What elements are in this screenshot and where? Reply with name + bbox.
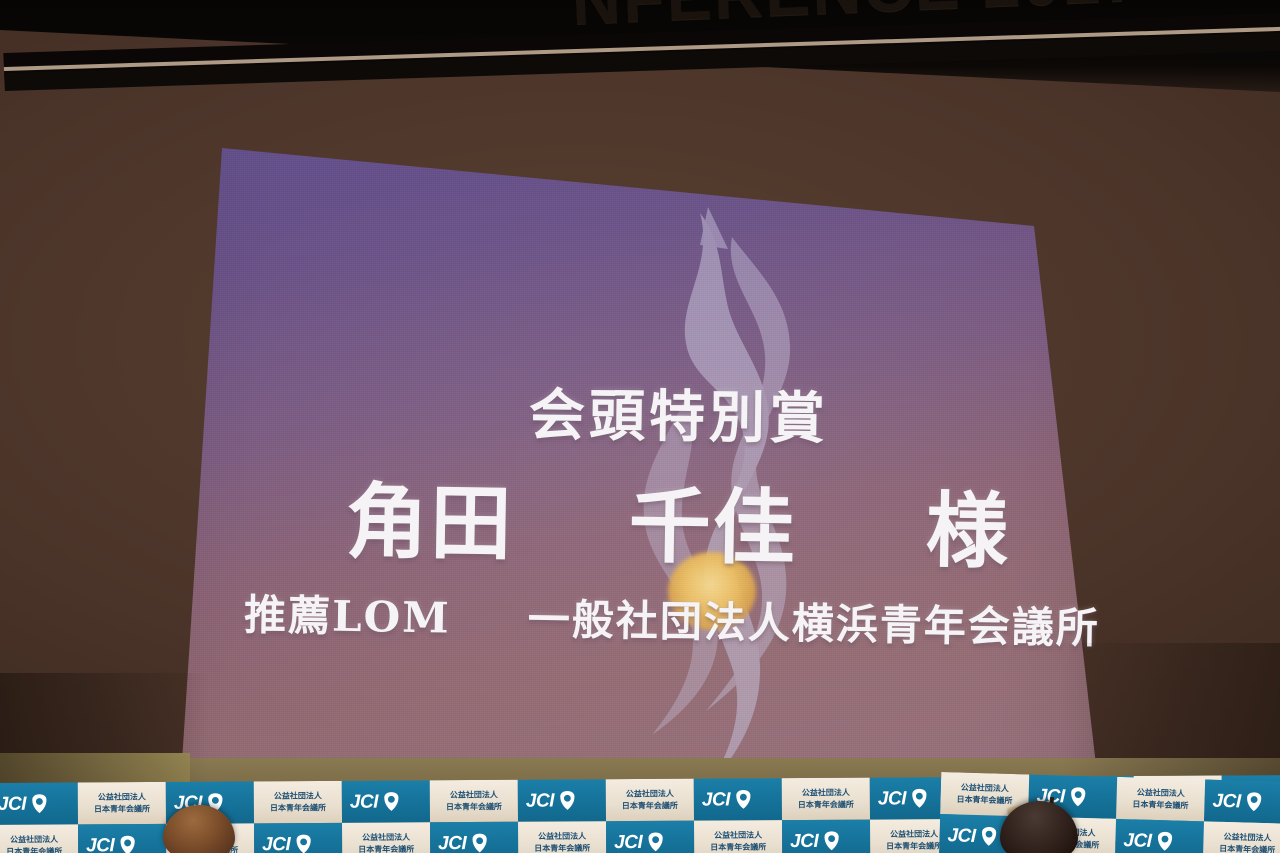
jci-org-line-1: 公益社団法人 [270, 790, 326, 802]
jci-shield-icon [980, 826, 998, 846]
skirt-cell-org-name: 公益社団法人日本青年会議所 [694, 820, 782, 853]
jci-logo: JCI [526, 790, 576, 810]
jci-logo: JCI [86, 835, 136, 853]
lom-label: 推薦LOM [244, 590, 451, 642]
skirt-cell-org-name: 公益社団法人日本青年会議所 [606, 779, 694, 822]
jci-wordmark: JCI [350, 792, 378, 811]
jci-shield-icon [1156, 831, 1174, 851]
jci-org-line-2: 日本青年会議所 [94, 803, 150, 815]
jci-logo: JCI [0, 794, 48, 814]
jci-org-line-2: 日本青年会議所 [446, 801, 502, 813]
skirt-cell-jci-logo: JCI [518, 779, 606, 822]
lom-name: 一般社団法人横浜青年会議所 [528, 595, 1101, 653]
jci-wordmark: JCI [614, 832, 642, 851]
jci-logo: JCI [1123, 830, 1174, 851]
jci-org-name: 公益社団法人日本青年会議所 [270, 790, 326, 814]
screenshot-root: NFERENCE 2017 会頭特別賞 角田 [0, 0, 1280, 853]
skirt-cell-org-name: 公益社団法人日本青年会議所 [782, 778, 870, 821]
jci-shield-icon [823, 831, 840, 851]
jci-org-line-1: 公益社団法人 [798, 787, 854, 799]
recipient-given-name: 千佳 [628, 478, 798, 577]
jci-logo: JCI [438, 833, 488, 853]
jci-wordmark: JCI [1123, 831, 1152, 851]
jci-wordmark: JCI [878, 789, 906, 808]
recipient-family-name: 角田 [345, 474, 515, 573]
jci-org-line-1: 公益社団法人 [710, 830, 766, 842]
skirt-cell-jci-logo: JCI [782, 820, 870, 853]
jci-org-name: 公益社団法人日本青年会議所 [6, 834, 62, 853]
name-spacer-1 [544, 553, 598, 554]
jci-org-line-2: 日本青年会議所 [710, 841, 766, 853]
skirt-cell-org-name: 公益社団法人日本青年会議所 [254, 781, 342, 824]
jci-org-name: 公益社団法人日本青年会議所 [622, 788, 678, 812]
skirt-cell-org-name: 公益社団法人日本青年会議所 [1116, 777, 1205, 821]
jci-org-line-2: 日本青年会議所 [886, 840, 942, 852]
jci-org-name: 公益社団法人日本青年会議所 [446, 789, 502, 813]
jci-logo: JCI [702, 789, 752, 809]
jci-wordmark: JCI [702, 790, 730, 809]
jci-org-line-2: 日本青年会議所 [6, 846, 62, 853]
jci-shield-icon [119, 835, 136, 853]
jci-org-line-1: 公益社団法人 [94, 791, 150, 803]
skirt-cell-org-name: 公益社団法人日本青年会議所 [78, 782, 166, 825]
jci-org-line-2: 日本青年会議所 [358, 843, 414, 853]
skirt-cell-jci-logo: JCI [78, 824, 166, 853]
skirt-cell-org-name: 公益社団法人日本青年会議所 [342, 822, 430, 853]
skirt-cell-org-name: 公益社団法人日本青年会議所 [430, 780, 518, 823]
jci-org-name: 公益社団法人日本青年会議所 [94, 791, 150, 815]
jci-org-line-2: 日本青年会議所 [798, 799, 854, 811]
jci-wordmark: JCI [0, 794, 26, 813]
jci-org-line-2: 日本青年会議所 [1219, 843, 1275, 853]
jci-wordmark: JCI [262, 835, 290, 853]
jci-table-skirt-right: 公益社団法人日本青年会議所JCI公益社団法人日本青年会議所JCI公益社団法人日本… [939, 772, 1280, 853]
jci-wordmark: JCI [438, 834, 466, 853]
jci-org-line-1: 公益社団法人 [622, 788, 678, 800]
jci-shield-icon [295, 834, 312, 853]
jci-org-line-1: 公益社団法人 [6, 834, 62, 846]
jci-wordmark: JCI [1212, 791, 1241, 811]
jci-logo: JCI [614, 832, 664, 852]
lom-spacer [467, 633, 511, 634]
skirt-cell-jci-logo: JCI [1115, 819, 1204, 853]
slide-text-layer: 会頭特別賞 角田 千佳 様 推薦LOM 一般社団法人横浜青年会議所 [0, 0, 1280, 853]
jci-shield-icon [911, 788, 928, 808]
jci-wordmark: JCI [526, 791, 554, 810]
skirt-cell-jci-logo: JCI [694, 778, 782, 821]
jci-wordmark: JCI [947, 826, 976, 846]
jci-org-line-1: 公益社団法人 [358, 832, 414, 844]
jci-org-name: 公益社団法人日本青年会議所 [1219, 831, 1276, 853]
skirt-cell-jci-logo: JCI [0, 782, 78, 825]
jci-org-name: 公益社団法人日本青年会議所 [534, 831, 590, 853]
skirt-cell-jci-logo: JCI [430, 822, 518, 853]
jci-org-name: 公益社団法人日本青年会議所 [956, 782, 1013, 807]
jci-org-line-1: 公益社団法人 [1133, 787, 1189, 800]
skirt-cell-jci-logo: JCI [606, 821, 694, 853]
jci-shield-icon [471, 833, 488, 853]
jci-shield-icon [383, 791, 400, 811]
jci-wordmark: JCI [86, 836, 114, 853]
jci-logo: JCI [350, 791, 400, 811]
skirt-cell-jci-logo: JCI [254, 823, 342, 853]
jci-org-line-1: 公益社団法人 [886, 829, 942, 841]
jci-org-name: 公益社団法人日本青年会議所 [886, 829, 942, 853]
skirt-cell-jci-logo: JCI [1204, 779, 1280, 823]
jci-shield-icon [1245, 792, 1263, 812]
skirt-cell-jci-logo: JCI [342, 780, 430, 823]
recipient-honorific: 様 [925, 483, 1011, 580]
award-title: 会頭特別賞 [39, 364, 1280, 461]
jci-logo: JCI [878, 788, 928, 808]
jci-logo: JCI [1212, 791, 1263, 812]
jci-logo: JCI [262, 834, 312, 853]
jci-wordmark: JCI [790, 831, 818, 850]
jci-org-name: 公益社団法人日本青年会議所 [358, 832, 414, 853]
jci-logo: JCI [947, 825, 998, 846]
jci-shield-icon [735, 789, 752, 809]
jci-org-line-2: 日本青年会議所 [270, 802, 326, 814]
jci-shield-icon [559, 790, 576, 810]
skirt-cell-org-name: 公益社団法人日本青年会議所 [0, 824, 78, 853]
jci-shield-icon [1069, 787, 1087, 807]
jci-org-line-2: 日本青年会議所 [534, 842, 590, 853]
jci-org-line-1: 公益社団法人 [534, 831, 590, 843]
skirt-cell-org-name: 公益社団法人日本青年会議所 [518, 821, 606, 853]
jci-org-name: 公益社団法人日本青年会議所 [798, 787, 854, 811]
lom-row: 推薦LOM 一般社団法人横浜青年会議所 [32, 578, 1280, 659]
jci-org-line-2: 日本青年会議所 [1132, 798, 1188, 811]
jci-org-name: 公益社団法人日本青年会議所 [1132, 787, 1189, 812]
jci-org-line-1: 公益社団法人 [957, 782, 1013, 795]
recipient-name-row: 角田 千佳 様 [37, 450, 1280, 589]
name-spacer-2 [827, 557, 895, 558]
jci-shield-icon [647, 832, 664, 852]
jci-logo: JCI [790, 831, 840, 851]
jci-org-name: 公益社団法人日本青年会議所 [710, 830, 766, 853]
jci-shield-icon [31, 794, 48, 814]
jci-org-line-2: 日本青年会議所 [956, 793, 1012, 806]
jci-org-line-1: 公益社団法人 [1219, 831, 1275, 844]
skirt-cell-org-name: 公益社団法人日本青年会議所 [1203, 821, 1280, 853]
jci-org-line-1: 公益社団法人 [446, 789, 502, 801]
jci-org-line-2: 日本青年会議所 [622, 800, 678, 812]
